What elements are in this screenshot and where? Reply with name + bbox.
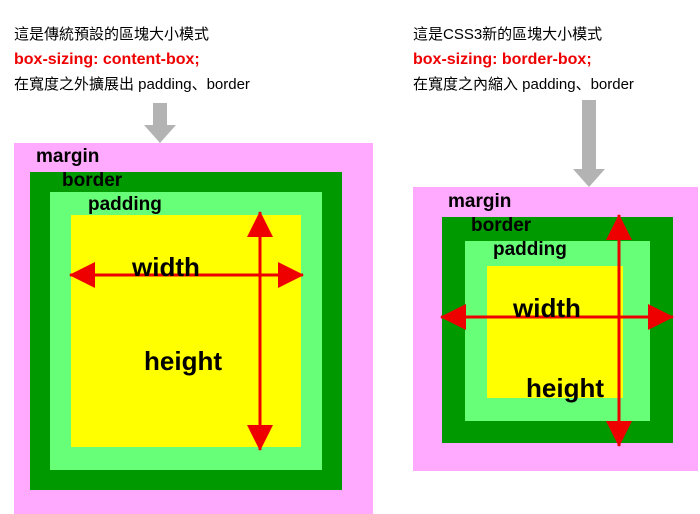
down-arrow-head (144, 125, 176, 143)
width-arrow-right-head (648, 304, 674, 330)
height-label: height (144, 346, 222, 377)
width-label: width (132, 252, 200, 283)
height-dimension-arrow (606, 215, 632, 446)
content-box-caption-code: box-sizing: content-box; (14, 47, 250, 72)
padding-label: padding (88, 194, 162, 216)
width-arrow-left-head (69, 262, 95, 288)
width-arrow-right-head (278, 262, 304, 288)
border-label: border (471, 215, 531, 237)
down-arrow-icon (144, 103, 176, 143)
height-arrow-bar (259, 212, 262, 450)
box-model-comparison-diagram: 這是傳統預設的區塊大小模式 box-sizing: content-box; 在… (0, 0, 700, 514)
margin-label: margin (36, 146, 99, 168)
down-arrow-head (573, 169, 605, 187)
content-box-caption-line-3-bold: 在寬度之外擴展出 (14, 76, 134, 93)
border-box-caption: 這是CSS3新的區塊大小模式 box-sizing: border-box; 在… (413, 22, 634, 97)
height-arrow-bar (618, 215, 621, 446)
content-box-caption-line-3-light: padding、border (134, 76, 250, 93)
border-box-caption-line-3-bold: 在寬度之內縮入 (413, 76, 518, 93)
height-arrow-top-head (606, 214, 632, 240)
padding-label: padding (493, 239, 567, 261)
content-box-caption-line-3: 在寬度之外擴展出 padding、border (14, 72, 250, 97)
border-box-caption-line-3: 在寬度之內縮入 padding、border (413, 72, 634, 97)
down-arrow-shaft (582, 100, 596, 170)
height-arrow-bottom-head (247, 425, 273, 451)
height-dimension-arrow (247, 212, 273, 450)
margin-label: margin (448, 191, 511, 213)
height-arrow-bottom-head (606, 421, 632, 447)
content-box-caption: 這是傳統預設的區塊大小模式 box-sizing: content-box; 在… (14, 22, 250, 97)
border-box-caption-line-1: 這是CSS3新的區塊大小模式 (413, 22, 634, 47)
down-arrow-shaft (153, 103, 167, 127)
height-label: height (526, 373, 604, 404)
border-label: border (62, 170, 122, 192)
border-box-caption-code: box-sizing: border-box; (413, 47, 634, 72)
content-box-diagram: margin border padding width height (14, 143, 373, 514)
width-label: width (513, 293, 581, 324)
border-box-caption-line-3-light: padding、border (518, 76, 634, 93)
content-box-caption-line-1: 這是傳統預設的區塊大小模式 (14, 22, 250, 47)
width-arrow-left-head (440, 304, 466, 330)
height-arrow-top-head (247, 211, 273, 237)
down-arrow-icon (573, 100, 605, 187)
border-box-diagram: margin border padding width height (413, 187, 698, 471)
